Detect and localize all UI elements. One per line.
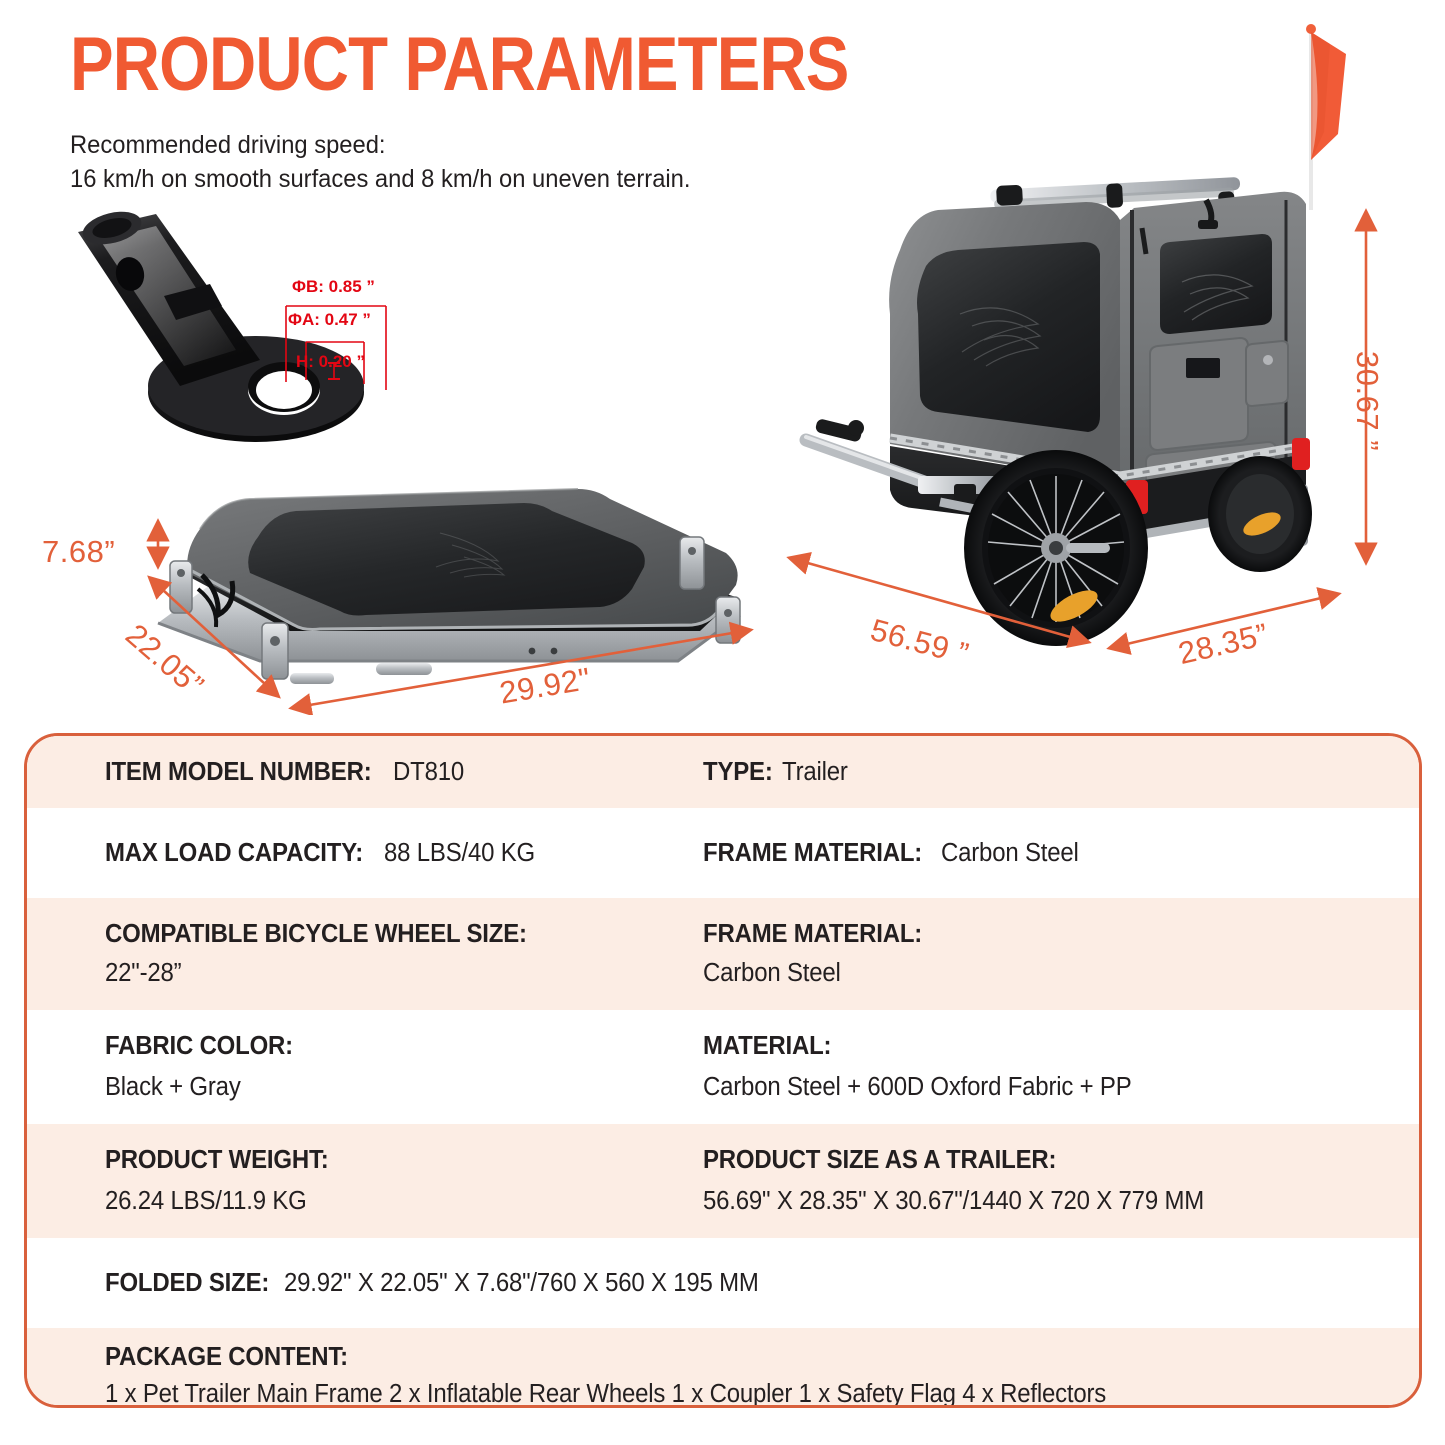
spec-label: MATERIAL: xyxy=(703,1032,831,1061)
folded-trailer-dimension-arrows xyxy=(30,500,770,715)
spec-cell-frame-material: FRAME MATERIAL: Carbon Steel xyxy=(667,839,1419,868)
spec-cell-material: MATERIAL: Carbon Steel + 600D Oxford Fab… xyxy=(667,1010,1419,1124)
spec-value: Black + Gray xyxy=(105,1073,241,1102)
spec-cell-product-weight: PRODUCT WEIGHT: 26.24 LBS/11.9 KG xyxy=(27,1124,667,1238)
spec-value: Trailer xyxy=(782,758,848,787)
spec-label: PRODUCT WEIGHT: xyxy=(105,1146,329,1175)
table-row: MAX LOAD CAPACITY: 88 LBS/40 KG FRAME MA… xyxy=(27,808,1419,898)
spec-cell-folded-size: FOLDED SIZE: 29.92" X 22.05" X 7.68"/760… xyxy=(27,1269,1419,1298)
coupler-callout-phi-a: ΦA: 0.47 ” xyxy=(288,310,371,330)
spec-value: 29.92" X 22.05" X 7.68"/760 X 560 X 195 … xyxy=(284,1269,759,1298)
spec-value: DT810 xyxy=(393,758,464,787)
spec-label: COMPATIBLE BICYCLE WHEEL SIZE: xyxy=(105,920,527,949)
spec-value: 26.24 LBS/11.9 KG xyxy=(105,1187,307,1216)
trailer-height-dimension: 30.67 ” xyxy=(1349,351,1385,451)
coupler-callout-phi-b: ΦB: 0.85 ” xyxy=(292,277,375,297)
package-content-line1: 1 x Pet Trailer Main Frame 2 x Inflatabl… xyxy=(105,1380,1106,1409)
speed-note-line1: Recommended driving speed: xyxy=(70,128,690,162)
spec-value: Carbon Steel xyxy=(941,839,1079,868)
spec-cell-fabric-color: FABRIC COLOR: Black + Gray xyxy=(27,1010,667,1124)
spec-cell-package-content: PACKAGE CONTENT: 1 x Pet Trailer Main Fr… xyxy=(27,1328,1419,1408)
spec-label: FABRIC COLOR: xyxy=(105,1032,293,1061)
page-title: PRODUCT PARAMETERS xyxy=(70,24,849,106)
coupler-callout-height: H: 0.20 ” xyxy=(296,352,365,372)
spec-label: TYPE: xyxy=(703,758,773,787)
spec-cell-max-load-capacity: MAX LOAD CAPACITY: 88 LBS/40 KG xyxy=(27,839,667,868)
product-parameters-infographic: PRODUCT PARAMETERS Recommended driving s… xyxy=(0,0,1445,1445)
table-row: PRODUCT WEIGHT: 26.24 LBS/11.9 KG PRODUC… xyxy=(27,1124,1419,1238)
folded-height-dimension: 7.68” xyxy=(42,534,115,570)
spec-value: 56.69" X 28.35" X 30.67"/1440 X 720 X 77… xyxy=(703,1187,1204,1216)
speed-note-line2: 16 km/h on smooth surfaces and 8 km/h on… xyxy=(70,162,690,196)
spec-label: PACKAGE CONTENT: xyxy=(105,1343,348,1372)
spec-value: 22"-28” xyxy=(105,959,181,988)
recommended-speed-note: Recommended driving speed: 16 km/h on sm… xyxy=(70,128,690,196)
table-row: PACKAGE CONTENT: 1 x Pet Trailer Main Fr… xyxy=(27,1328,1419,1408)
spec-label: FOLDED SIZE: xyxy=(105,1269,269,1298)
spec-cell-type: TYPE: Trailer xyxy=(667,758,1419,787)
spec-value: Carbon Steel + 600D Oxford Fabric + PP xyxy=(703,1073,1132,1102)
spec-value: Carbon Steel xyxy=(703,959,841,988)
table-row: ITEM MODEL NUMBER: DT810 TYPE: Trailer xyxy=(27,736,1419,808)
spec-cell-item-model-number: ITEM MODEL NUMBER: DT810 xyxy=(27,758,667,787)
spec-label: MAX LOAD CAPACITY: xyxy=(105,839,363,868)
spec-cell-product-size-trailer: PRODUCT SIZE AS A TRAILER: 56.69" X 28.3… xyxy=(667,1124,1419,1238)
spec-label: FRAME MATERIAL: xyxy=(703,920,922,949)
table-row: FABRIC COLOR: Black + Gray MATERIAL: Car… xyxy=(27,1010,1419,1124)
spec-cell-wheel-size: COMPATIBLE BICYCLE WHEEL SIZE: 22"-28” xyxy=(27,898,667,1010)
spec-label: ITEM MODEL NUMBER: xyxy=(105,758,371,787)
table-row: COMPATIBLE BICYCLE WHEEL SIZE: 22"-28” F… xyxy=(27,898,1419,1010)
specification-table: ITEM MODEL NUMBER: DT810 TYPE: Trailer M… xyxy=(24,733,1422,1408)
spec-value: 88 LBS/40 KG xyxy=(384,839,535,868)
assembled-trailer-dimension-arrows xyxy=(770,190,1430,690)
spec-label: FRAME MATERIAL: xyxy=(703,839,922,868)
spec-cell-frame-material-2: FRAME MATERIAL: Carbon Steel xyxy=(667,898,1419,1010)
spec-label: PRODUCT SIZE AS A TRAILER: xyxy=(703,1146,1056,1175)
table-row: FOLDED SIZE: 29.92" X 22.05" X 7.68"/760… xyxy=(27,1238,1419,1328)
